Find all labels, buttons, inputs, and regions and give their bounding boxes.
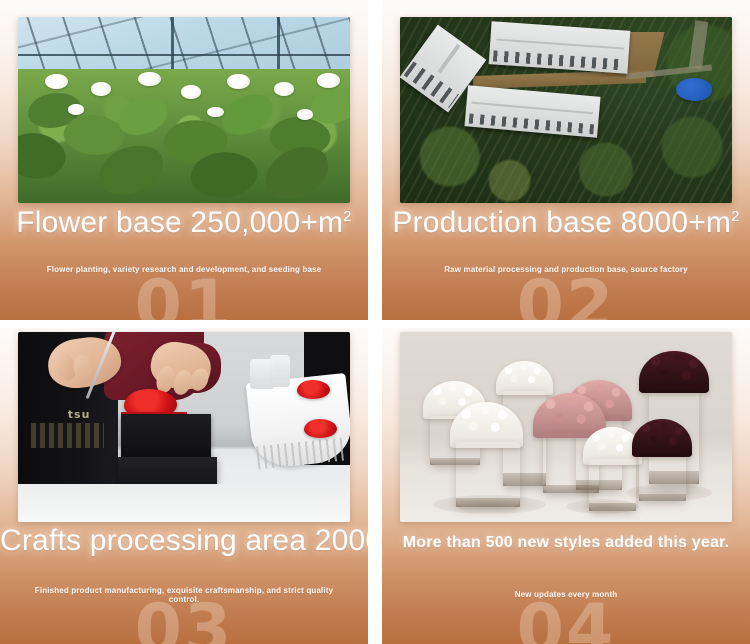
panel-title-text: More than 500 new styles added this year… xyxy=(403,534,730,551)
panel-photo-rose-boxes xyxy=(400,332,732,522)
column-gutter xyxy=(368,0,382,320)
panel-subtitle: Raw material processing and production b… xyxy=(402,265,730,274)
rose-boxes-illustration xyxy=(400,332,732,522)
promo-panel-flower-base: 01 xyxy=(0,0,368,320)
apron-pattern xyxy=(31,423,104,448)
roof-ridge xyxy=(472,102,594,115)
chrysanthemum-bloom xyxy=(317,73,340,88)
panel-photo-greenhouse xyxy=(18,17,350,203)
roof-ridge xyxy=(495,39,623,50)
promo-panel-production-base: 02 Production base xyxy=(382,0,750,320)
panel-title-text: Flower base 250,000+m xyxy=(16,206,343,239)
panel-title-text: Production base 8000+m xyxy=(392,206,731,239)
panel-title-superscript: 2 xyxy=(343,208,352,225)
row-gutter xyxy=(368,320,382,328)
leaf xyxy=(258,140,336,203)
craft-workshop-illustration: tsu xyxy=(18,332,350,522)
chrysanthemum-bloom xyxy=(207,107,224,118)
roof-ridge xyxy=(438,44,461,73)
promo-panel-grid: 01 xyxy=(0,0,750,644)
panel-subtitle: Finished product manufacturing, exquisit… xyxy=(20,586,348,604)
greenhouse-beam xyxy=(18,54,350,56)
chrysanthemum-bloom xyxy=(68,104,85,115)
chrysanthemum-bloom xyxy=(227,74,250,89)
panel-watermark-number: 02 xyxy=(382,278,750,320)
chrysanthemum-bloom xyxy=(181,85,201,98)
red-rose xyxy=(297,380,330,399)
leaf xyxy=(115,94,170,137)
panel-subtitle: Flower planting, variety research and de… xyxy=(20,265,348,274)
panel-watermark-number: 04 xyxy=(382,602,750,644)
kraft-box xyxy=(456,442,519,507)
work-table-surface xyxy=(18,484,350,522)
panel-title-superscript: 2 xyxy=(731,208,740,225)
panel-title: More than 500 new styles added this year… xyxy=(382,534,750,552)
supply-bottle xyxy=(270,355,290,387)
panel-title: Flower base 250,000+m2 xyxy=(0,206,368,240)
leaf xyxy=(308,85,350,125)
apron-logo-text: tsu xyxy=(68,408,91,421)
column-gutter xyxy=(368,328,382,644)
promo-panel-crafts-processing: 03 tsu xyxy=(0,328,368,644)
row-gutter xyxy=(0,320,368,328)
row-gutter xyxy=(382,320,750,328)
panel-photo-aerial-factory xyxy=(400,17,732,203)
aerial-factory-illustration xyxy=(400,17,732,203)
gift-box-top xyxy=(121,414,211,463)
greenhouse-foliage xyxy=(18,69,350,203)
panel-photo-craft-workshop: tsu xyxy=(18,332,350,522)
chrysanthemum-bloom xyxy=(274,82,294,95)
panel-title-text: Crafts processing area 2000+m xyxy=(0,524,368,557)
panel-watermark-number: 01 xyxy=(0,278,368,320)
leaf xyxy=(216,89,277,140)
red-rose xyxy=(304,419,337,438)
water-pool xyxy=(676,78,713,100)
chrysanthemum-bloom xyxy=(45,74,68,89)
greenhouse-illustration xyxy=(18,17,350,203)
panel-watermark-number: 03 xyxy=(0,602,368,644)
panel-subtitle: New updates every month xyxy=(402,590,730,599)
promo-panel-new-styles: 04 xyxy=(382,328,750,644)
kraft-box xyxy=(639,452,685,501)
chrysanthemum-bloom xyxy=(138,72,161,87)
panel-title: Crafts processing area 2000+m2 xyxy=(0,524,368,558)
panel-title: Production base 8000+m2 xyxy=(382,206,750,240)
kraft-box xyxy=(589,459,635,510)
chrysanthemum-bloom xyxy=(91,82,111,95)
